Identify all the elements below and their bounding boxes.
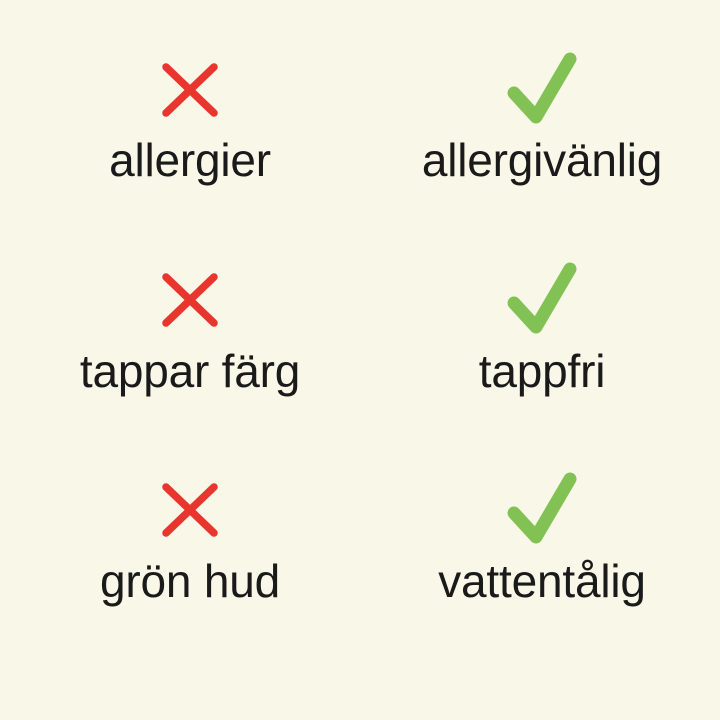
cross-icon xyxy=(161,257,219,343)
comparison-label-positive-3: vattentålig xyxy=(438,557,646,605)
comparison-cell-positive-1: allergivänlig xyxy=(362,30,720,239)
cross-icon xyxy=(161,467,219,553)
check-icon xyxy=(506,48,578,132)
cross-icon xyxy=(161,48,219,132)
comparison-label-positive-1: allergivänlig xyxy=(422,136,662,184)
check-icon xyxy=(506,467,578,553)
comparison-cell-negative-3: grön hud xyxy=(10,449,370,658)
comparison-cell-positive-2: tappfri xyxy=(362,239,720,448)
comparison-label-negative-2: tappar färg xyxy=(80,347,300,395)
comparison-cell-negative-2: tappar färg xyxy=(10,239,370,448)
comparison-cell-positive-3: vattentålig xyxy=(362,449,720,658)
check-icon xyxy=(506,257,578,343)
comparison-board: allergier allergivänlig tappar färg xyxy=(0,0,720,720)
comparison-cell-negative-1: allergier xyxy=(10,30,370,239)
comparison-label-negative-1: allergier xyxy=(109,136,271,184)
comparison-label-positive-2: tappfri xyxy=(479,347,605,395)
comparison-label-negative-3: grön hud xyxy=(100,557,280,605)
